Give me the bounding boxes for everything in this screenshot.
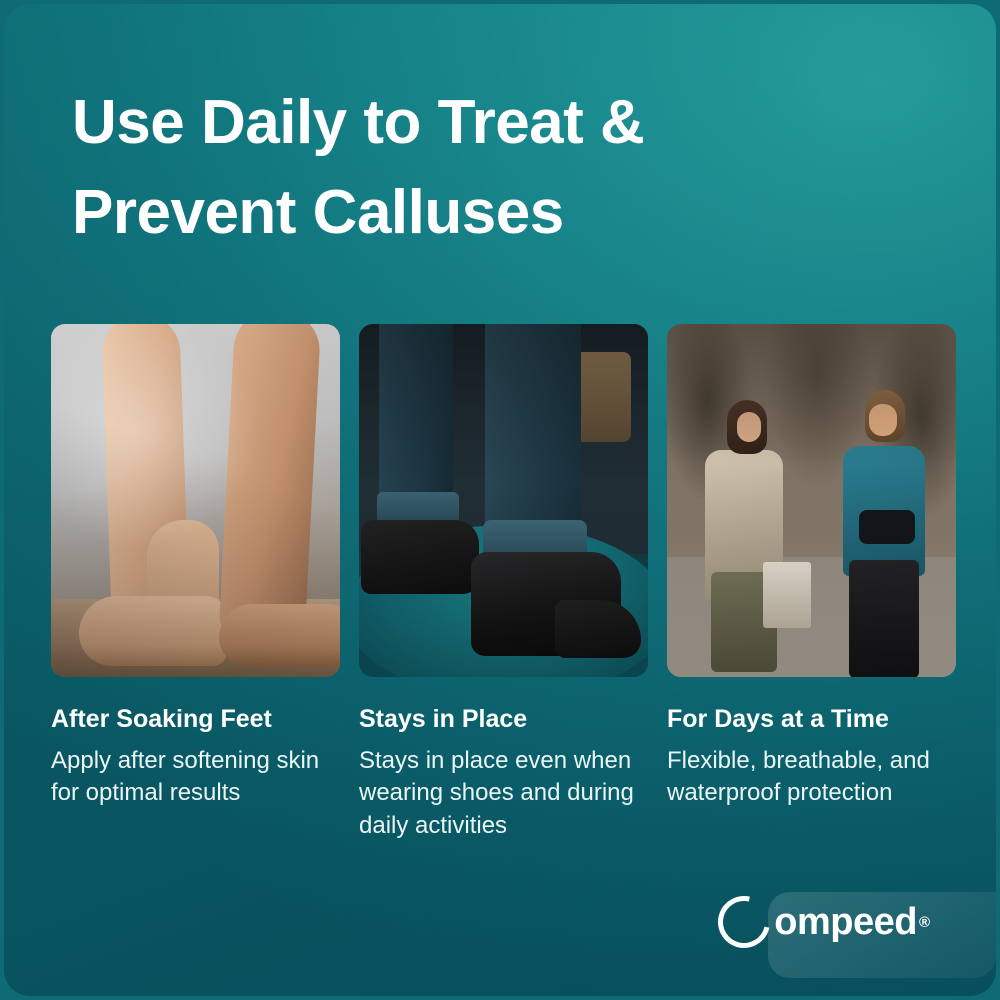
photo-boots-on-teal-rug xyxy=(359,324,648,677)
brand-logo: ompeed ® xyxy=(718,896,930,948)
tile-title-2: Stays in Place xyxy=(359,705,648,734)
compeed-c-mark-icon xyxy=(708,886,780,958)
ad-card: Use Daily to Treat & Prevent Calluses Af… xyxy=(4,4,996,996)
tile-body-2: Stays in place even when wearing shoes a… xyxy=(359,745,648,842)
page-title: Use Daily to Treat & Prevent Calluses xyxy=(72,78,892,258)
tile-body-3: Flexible, breathable, and waterproof pro… xyxy=(667,745,956,810)
photo-bare-feet-on-floor xyxy=(51,324,340,677)
ad-canvas: Use Daily to Treat & Prevent Calluses Af… xyxy=(0,0,1000,1000)
feature-tile-3: For Days at a Time Flexible, breathable,… xyxy=(667,324,956,842)
tile-title-3: For Days at a Time xyxy=(667,705,956,734)
feature-tile-2: Stays in Place Stays in place even when … xyxy=(359,324,648,842)
feature-tile-1: After Soaking Feet Apply after softening… xyxy=(51,324,340,842)
brand-name: ompeed xyxy=(774,901,917,944)
registered-trademark-symbol: ® xyxy=(919,914,930,931)
tile-title-1: After Soaking Feet xyxy=(51,705,340,734)
tile-body-1: Apply after softening skin for optimal r… xyxy=(51,745,340,810)
feature-tiles: After Soaking Feet Apply after softening… xyxy=(51,324,957,842)
photo-couple-walking-outdoors xyxy=(667,324,956,677)
